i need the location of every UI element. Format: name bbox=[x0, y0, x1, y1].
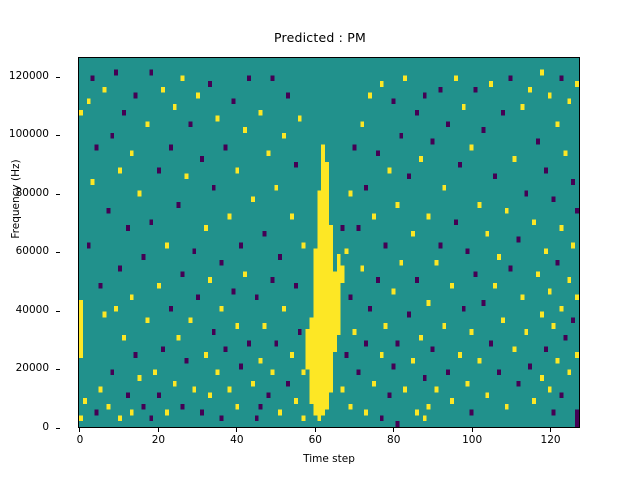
y-tick-label: 20000 bbox=[16, 362, 49, 374]
x-tick-label: 100 bbox=[450, 434, 494, 446]
x-tick-label: 60 bbox=[293, 434, 337, 446]
heatmap-cells bbox=[79, 58, 579, 427]
x-axis-label: Time step bbox=[78, 453, 580, 465]
matplotlib-figure: Predicted : PM 0200004000060000800001000… bbox=[0, 0, 640, 480]
x-tick-mark bbox=[550, 428, 551, 432]
x-tick-label: 120 bbox=[529, 434, 573, 446]
x-tick-mark bbox=[393, 428, 394, 432]
x-tick-mark bbox=[158, 428, 159, 432]
y-tick-mark bbox=[56, 135, 60, 136]
y-tick-label: 120000 bbox=[9, 70, 49, 82]
x-tick-mark bbox=[315, 428, 316, 432]
y-tick-mark bbox=[56, 252, 60, 253]
x-tick-mark bbox=[236, 428, 237, 432]
chart-title: Predicted : PM bbox=[0, 30, 640, 45]
y-tick-mark bbox=[56, 194, 60, 195]
y-tick-label: 40000 bbox=[16, 304, 49, 316]
x-tick-mark bbox=[79, 428, 80, 432]
heatmap-plot-area[interactable] bbox=[78, 57, 580, 428]
x-tick-mark bbox=[472, 428, 473, 432]
y-tick-mark bbox=[56, 77, 60, 78]
y-tick-label: 0 bbox=[42, 421, 49, 433]
y-axis-label: Frequency (Hz) bbox=[10, 139, 22, 259]
y-tick-mark bbox=[56, 311, 60, 312]
y-tick-mark bbox=[56, 428, 60, 429]
x-tick-label: 0 bbox=[58, 434, 102, 446]
x-tick-label: 80 bbox=[372, 434, 416, 446]
y-tick-mark bbox=[56, 369, 60, 370]
x-tick-label: 20 bbox=[136, 434, 180, 446]
x-tick-label: 40 bbox=[215, 434, 259, 446]
